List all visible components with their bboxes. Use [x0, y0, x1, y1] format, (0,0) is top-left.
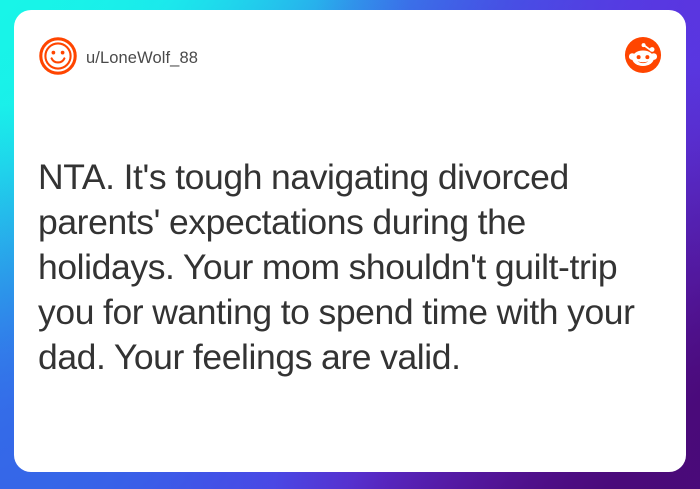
screenshot-stage: u/LoneWolf_88 NTA. It's tough	[0, 0, 700, 489]
comment-body-text: NTA. It's tough navigating divorced pare…	[38, 155, 666, 380]
card-header: u/LoneWolf_88	[14, 10, 686, 88]
reddit-comment-card: u/LoneWolf_88 NTA. It's tough	[14, 10, 686, 472]
username-label: u/LoneWolf_88	[86, 48, 198, 68]
smiley-face-avatar-icon[interactable]	[38, 36, 78, 76]
reddit-snoo-logo-icon[interactable]	[624, 36, 662, 74]
